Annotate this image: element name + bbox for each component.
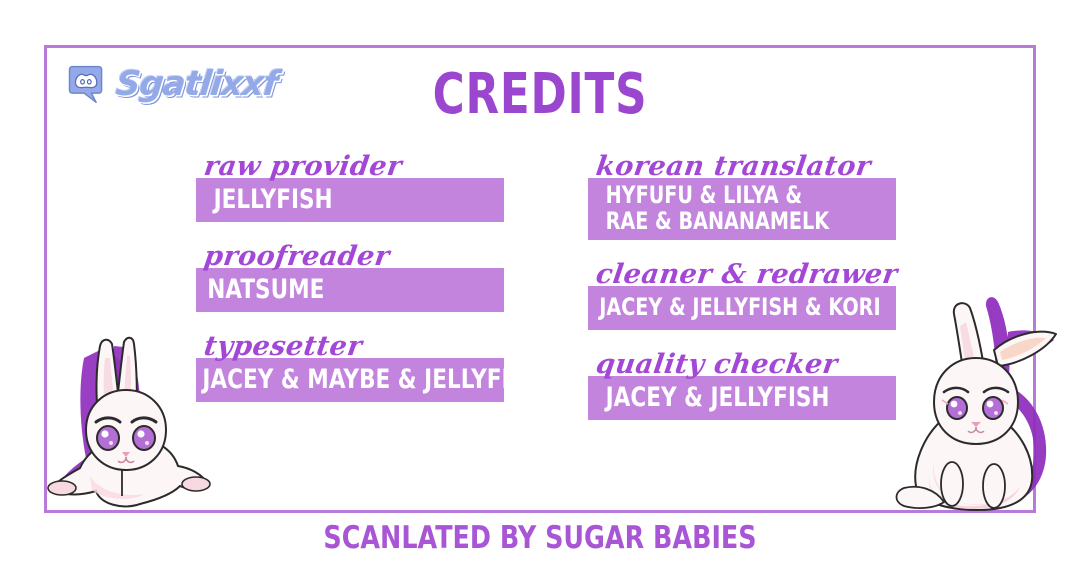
credit-role-label: korean translator xyxy=(594,152,900,182)
credit-role-label: proofreader xyxy=(202,242,508,272)
credit-row: raw provider JELLYFISH xyxy=(196,152,504,222)
credit-row: proofreader NATSUME xyxy=(196,242,504,312)
credit-name-line: HYFUFU & LILYA & xyxy=(588,182,834,208)
credit-row: typesetter JACEY & MAYBE & JELLYFISH xyxy=(196,332,504,402)
credit-names-bar: JACEY & MAYBE & JELLYFISH xyxy=(196,358,504,402)
credit-names-bar: JACEY & JELLYFISH & KORI xyxy=(588,286,896,330)
credit-name-line: RAE & BANANAMELK xyxy=(588,208,834,234)
credit-role-label: cleaner & redrawer xyxy=(594,260,900,290)
credit-name-line: JACEY & MAYBE & JELLYFISH xyxy=(196,366,442,393)
discord-icon xyxy=(64,62,108,106)
bunny-lying-icon xyxy=(26,318,226,523)
credit-names-bar: JACEY & JELLYFISH xyxy=(588,376,896,420)
credits-page: Sgatlixxf CREDITS raw provider JELLYFISH… xyxy=(0,0,1080,563)
credit-row: cleaner & redrawer JACEY & JELLYFISH & K… xyxy=(588,260,896,330)
footer-text: SCANLATED BY SUGAR BABIES xyxy=(97,520,983,556)
credit-name-line: JACEY & JELLYFISH & KORI xyxy=(588,294,834,320)
credit-name-line: NATSUME xyxy=(196,276,442,303)
credit-names-bar: NATSUME xyxy=(196,268,504,312)
credit-row: quality checker JACEY & JELLYFISH xyxy=(588,350,896,420)
credit-name-line: JELLYFISH xyxy=(196,186,442,213)
credit-role-label: quality checker xyxy=(594,350,900,380)
credit-role-label: typesetter xyxy=(202,332,508,362)
credit-names-bar: JELLYFISH xyxy=(196,178,504,222)
credits-right-column: korean translator HYFUFU & LILYA & RAE &… xyxy=(588,152,896,440)
page-title: CREDITS xyxy=(119,62,961,127)
credit-row: korean translator HYFUFU & LILYA & RAE &… xyxy=(588,152,896,240)
bunny-sitting-icon xyxy=(890,288,1080,520)
credits-left-column: raw provider JELLYFISH proofreader NATSU… xyxy=(196,152,504,440)
credits-columns: raw provider JELLYFISH proofreader NATSU… xyxy=(196,152,896,440)
credit-name-line: JACEY & JELLYFISH xyxy=(588,384,834,411)
credit-names-bar: HYFUFU & LILYA & RAE & BANANAMELK xyxy=(588,178,896,240)
credit-role-label: raw provider xyxy=(202,152,508,182)
